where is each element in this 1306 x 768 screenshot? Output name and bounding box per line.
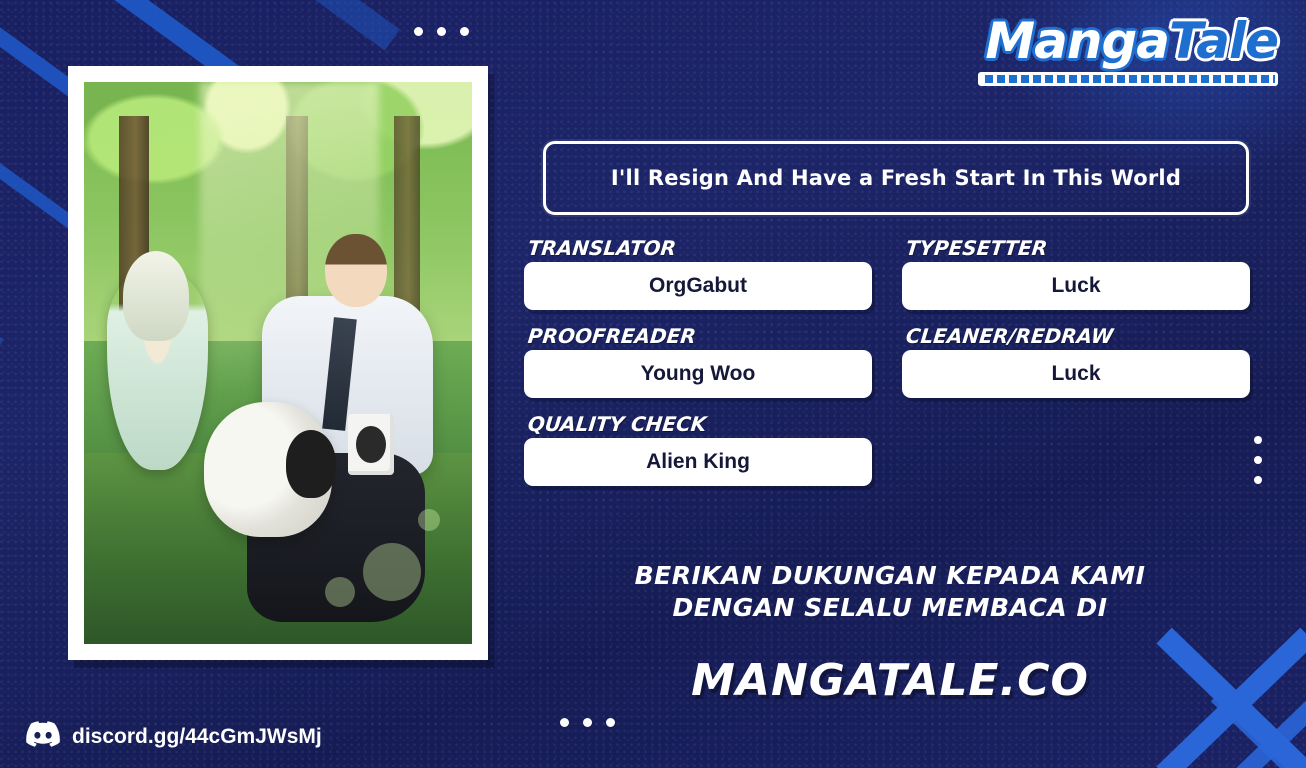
credit-value-pill: Young Woo xyxy=(524,350,872,398)
credits-row: PROOFREADER Young Woo CLEANER/REDRAW Luc… xyxy=(524,324,1250,412)
credit-value: Luck xyxy=(1051,362,1100,386)
credit-value: Alien King xyxy=(646,450,750,474)
artwork-sheep-head xyxy=(286,430,336,497)
logo-wordmark-manga: Manga xyxy=(985,12,1169,70)
artwork-boy-head xyxy=(325,234,387,307)
artwork-bokeh xyxy=(363,543,421,601)
credit-proofreader: PROOFREADER Young Woo xyxy=(524,324,872,412)
credit-value: Young Woo xyxy=(641,362,756,386)
cover-image-frame xyxy=(68,66,488,660)
credit-value: Luck xyxy=(1051,274,1100,298)
credit-cleaner-redraw: CLEANER/REDRAW Luck xyxy=(902,324,1250,412)
support-message: BERIKAN DUKUNGAN KEPADA KAMI DENGAN SELA… xyxy=(520,560,1260,624)
credit-value: OrgGabut xyxy=(649,274,747,298)
credits-row: QUALITY CHECK Alien King xyxy=(524,412,1250,500)
credit-label: QUALITY CHECK xyxy=(527,412,708,436)
dots-decoration-bottom xyxy=(560,718,615,727)
credit-typesetter: TYPESETTER Luck xyxy=(902,236,1250,324)
discord-handle: discord.gg/44cGmJWsMj xyxy=(72,725,322,749)
credit-value-pill: Luck xyxy=(902,262,1250,310)
artwork-bokeh xyxy=(325,577,355,607)
credit-label: TYPESETTER xyxy=(905,236,1049,260)
cover-artwork xyxy=(84,82,472,644)
discord-invite[interactable]: discord.gg/44cGmJWsMj xyxy=(26,721,322,752)
series-title-box: I'll Resign And Have a Fresh Start In Th… xyxy=(543,141,1249,215)
credits-row: TRANSLATOR OrgGabut TYPESETTER Luck xyxy=(524,236,1250,324)
dots-decoration-right xyxy=(1254,436,1262,484)
support-line-1: BERIKAN DUKUNGAN KEPADA KAMI xyxy=(520,560,1260,592)
artwork-girl-hair xyxy=(123,251,189,341)
credit-quality-check: QUALITY CHECK Alien King xyxy=(524,412,872,500)
credit-label: CLEANER/REDRAW xyxy=(905,324,1115,348)
credit-label: TRANSLATOR xyxy=(527,236,678,260)
artwork-mug xyxy=(348,414,395,476)
credit-label: PROOFREADER xyxy=(527,324,697,348)
credit-translator: TRANSLATOR OrgGabut xyxy=(524,236,872,324)
logo-wordmark: MangaTale xyxy=(978,16,1278,66)
series-title: I'll Resign And Have a Fresh Start In Th… xyxy=(611,166,1181,190)
artwork-bokeh xyxy=(418,509,440,531)
credits-section: TRANSLATOR OrgGabut TYPESETTER Luck PROO… xyxy=(524,236,1250,500)
logo-wordmark-tale: Tale xyxy=(1169,12,1278,70)
dots-decoration-top xyxy=(414,27,469,36)
credits-spacer xyxy=(902,412,1250,500)
mangatale-logo: MangaTale xyxy=(978,16,1278,86)
discord-icon xyxy=(26,721,60,752)
support-line-2: DENGAN SELALU MEMBACA DI xyxy=(520,592,1260,624)
credit-value-pill: Alien King xyxy=(524,438,872,486)
credit-value-pill: OrgGabut xyxy=(524,262,872,310)
website-url: MANGATALE.CO xyxy=(520,655,1260,706)
logo-underbar xyxy=(978,72,1278,86)
credit-value-pill: Luck xyxy=(902,350,1250,398)
